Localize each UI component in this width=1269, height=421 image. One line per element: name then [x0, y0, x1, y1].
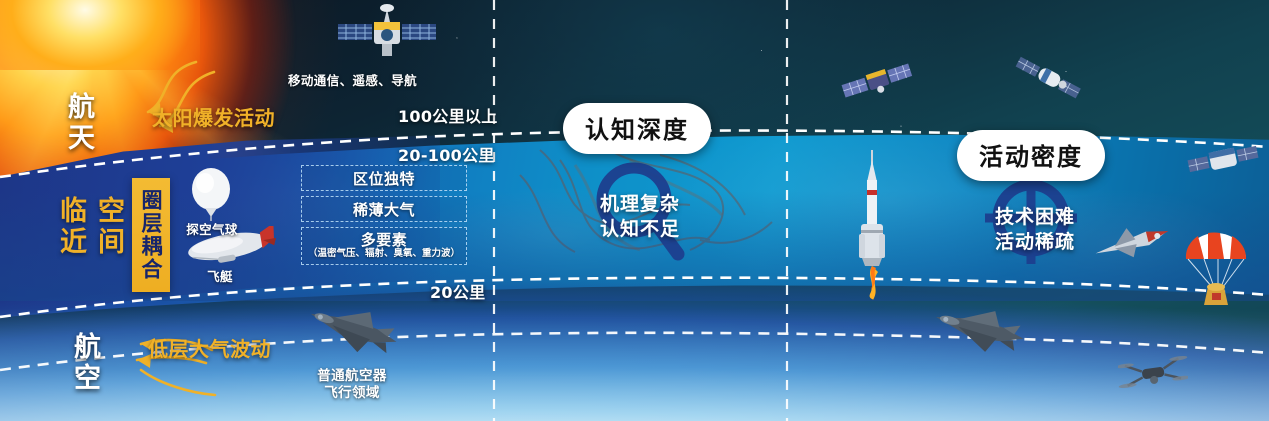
near-space-char-4: 间 — [98, 227, 126, 258]
panel-pill-activity: 活动密度 — [957, 130, 1105, 181]
satellite-right-a — [838, 56, 916, 106]
panel-activity-line-2: 活动稀疏 — [955, 230, 1115, 255]
panel-pill-cognition-label: 认知深度 — [585, 116, 689, 144]
layer-label-space-char-1: 航 — [68, 92, 114, 123]
low-atmosphere-annotation: 低层大气波动 — [148, 333, 271, 362]
aircraft-domain-caption: 普通航空器 飞行领域 — [300, 368, 404, 402]
balloon-caption: 探空气球 — [182, 219, 242, 238]
feature-box-1: 区位独特 — [301, 165, 467, 191]
near-space-char-2: 空 — [98, 196, 126, 227]
satellite-top — [318, 2, 454, 68]
altitude-label-20-100km: 20-100公里 — [398, 142, 495, 166]
feature-box-2: 稀薄大气 — [301, 196, 467, 222]
aircraft-domain-line-2: 飞行领域 — [300, 385, 404, 402]
layer-label-space: 航 天 — [68, 92, 114, 154]
feature-2-title: 稀薄大气 — [353, 199, 415, 220]
space-capsule — [1186, 132, 1260, 186]
sounding-balloon — [185, 165, 237, 221]
feature-box-3: 多要素 （温密气压、辐射、臭氧、重力波） — [301, 227, 467, 265]
panel-pill-cognition: 认知深度 — [563, 103, 711, 154]
panel-cognition-line-1: 机理复杂 — [560, 192, 720, 217]
layer-label-aviation: 航 空 — [74, 332, 120, 394]
airship-caption: 飞艇 — [198, 266, 242, 285]
altitude-label-above-100km: 100公里以上 — [398, 103, 498, 127]
near-space-char-1: 临 — [60, 196, 88, 227]
altitude-label-20km: 20公里 — [430, 279, 485, 303]
panel-activity-text: 技术困难 活动稀疏 — [955, 205, 1115, 255]
feature-3-title: 多要素 — [361, 232, 408, 248]
coupling-banner-text: 圈层耦合 — [140, 189, 162, 281]
drone — [1118, 350, 1188, 394]
layer-label-aviation-char-1: 航 — [74, 332, 120, 363]
layer-label-aviation-char-2: 空 — [74, 363, 120, 394]
sun-core — [0, 0, 200, 70]
panel-cognition-text: 机理复杂 认知不足 — [560, 192, 720, 242]
satellite-uses-caption: 移动通信、遥感、导航 — [288, 70, 417, 89]
near-space-col-2: 空 间 — [98, 196, 126, 258]
panel-activity-line-1: 技术困难 — [955, 205, 1115, 230]
layer-label-near-space: 临 近 空 间 — [60, 196, 126, 258]
rocket — [846, 150, 898, 300]
fighter-jet-right — [928, 300, 1032, 362]
near-space-char-3: 近 — [60, 227, 88, 258]
parachute-capsule — [1178, 225, 1254, 309]
panel-pill-activity-label: 活动密度 — [979, 143, 1083, 171]
feature-1-title: 区位独特 — [353, 168, 415, 189]
feature-3-subtitle: （温密气压、辐射、臭氧、重力波） — [308, 248, 460, 260]
fighter-jet-left — [302, 298, 406, 362]
near-space-col-1: 临 近 — [60, 196, 88, 258]
solar-annotation: 太阳爆发活动 — [152, 102, 275, 131]
infographic-canvas: 航 天 太阳爆发活动 移动通信、遥感、导航 100公里以上 20-100公里 2… — [0, 0, 1269, 421]
coupling-banner: 圈层耦合 — [132, 178, 170, 292]
satellite-right-b — [1012, 50, 1084, 106]
aircraft-domain-line-1: 普通航空器 — [300, 368, 404, 385]
panel-cognition-line-2: 认知不足 — [560, 217, 720, 242]
layer-label-space-char-2: 天 — [68, 123, 114, 154]
